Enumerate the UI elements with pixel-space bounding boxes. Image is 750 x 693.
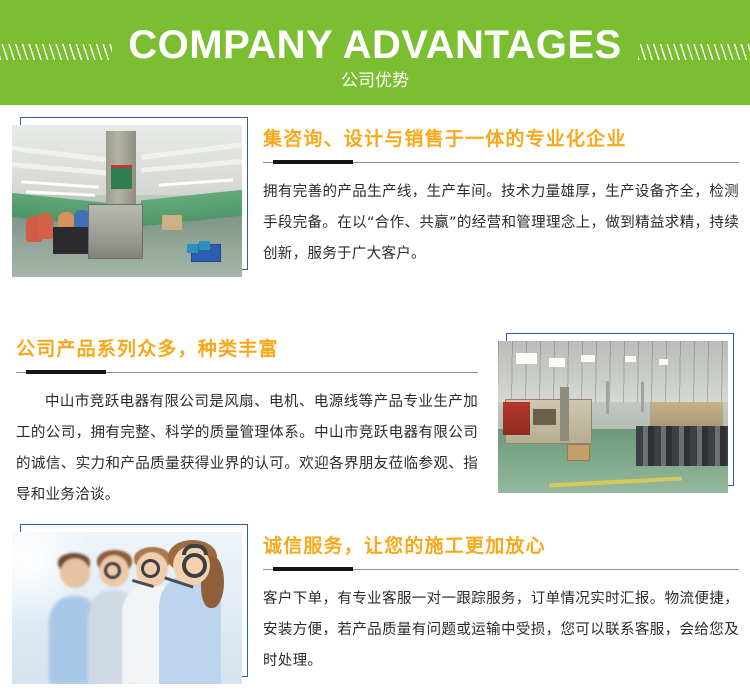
advantage-3-title: 诚信服务，让您的施工更加放心 (263, 534, 739, 558)
advantage-2-title: 公司产品系列众多，种类丰富 (16, 337, 478, 361)
advantage-1-text-column: 集咨询、设计与销售于一体的专业化企业 拥有完善的产品生产线，生产车间。技术力量雄… (263, 127, 739, 270)
advantage-1-body: 拥有完善的产品生产线，生产车间。技术力量雄厚，生产设备齐全，检测手段完备。在以“… (263, 177, 739, 270)
page-banner: COMPANY ADVANTAGES 公司优势 (0, 0, 750, 105)
advantage-3-divider (263, 567, 739, 573)
company-advantages-page: COMPANY ADVANTAGES 公司优势 (0, 0, 750, 693)
advantage-1-title: 集咨询、设计与销售于一体的专业化企业 (263, 127, 739, 151)
advantage-3-body: 客户下单，有专业客服一对一跟踪服务，订单情况实时汇报。物流便捷，安装方便，若产品… (263, 584, 739, 677)
customer-service-team-photo (12, 532, 242, 684)
advantage-2-divider (16, 370, 478, 376)
page-subtitle: 公司优势 (0, 70, 750, 92)
advantage-1-divider (263, 160, 739, 166)
advantage-section-3: 诚信服务，让您的施工更加放心 客户下单，有专业客服一对一跟踪服务，订单情况实时汇… (0, 518, 750, 693)
advantage-section-1: 集咨询、设计与销售于一体的专业化企业 拥有完善的产品生产线，生产车间。技术力量雄… (0, 113, 750, 288)
advantage-section-2: 公司产品系列众多，种类丰富 中山市竞跃电器有限公司是风扇、电机、电源线等产品专业… (0, 325, 750, 510)
advantage-3-text-column: 诚信服务，让您的施工更加放心 客户下单，有专业客服一对一跟踪服务，订单情况实时汇… (263, 534, 739, 677)
factory-warehouse-photo (498, 341, 728, 493)
page-title: COMPANY ADVANTAGES (0, 22, 750, 68)
advantage-2-body: 中山市竞跃电器有限公司是风扇、电机、电源线等产品专业生产加工的公司，拥有完整、科… (16, 387, 478, 511)
advantage-2-text-column: 公司产品系列众多，种类丰富 中山市竞跃电器有限公司是风扇、电机、电源线等产品专业… (16, 337, 478, 511)
factory-workshop-photo (12, 125, 242, 277)
